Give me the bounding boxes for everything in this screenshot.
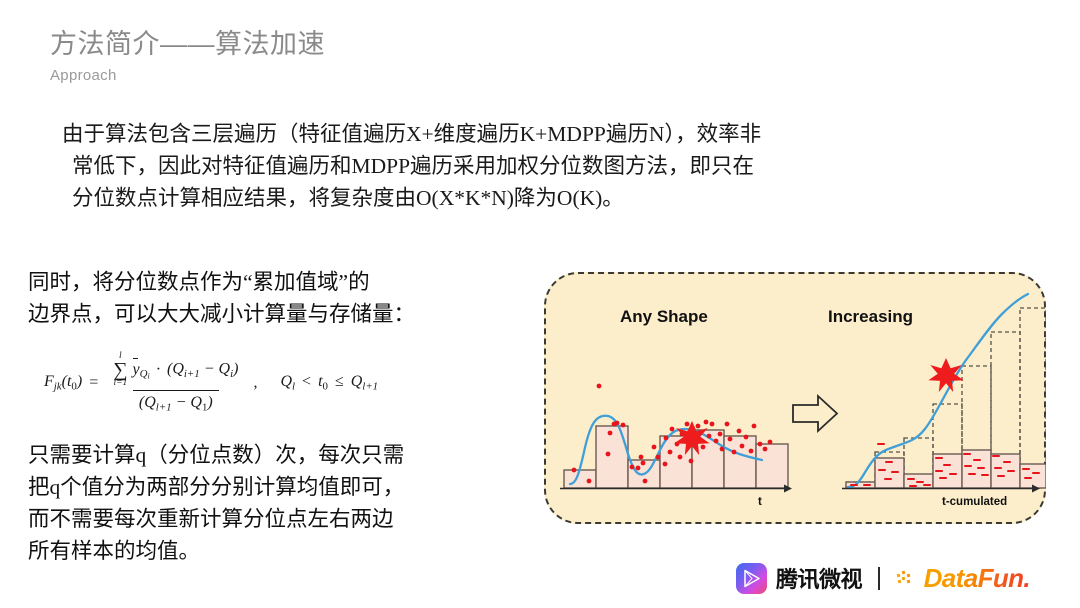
- figure-canvas: [546, 274, 1046, 524]
- bar: [991, 454, 1020, 488]
- data-point: [749, 449, 754, 454]
- dot-cluster-icon: [896, 568, 914, 588]
- formula-fraction: l ∑ i=1 yQi · (Qi+1 − Qi) (Ql+1 − Q1): [107, 352, 244, 413]
- paragraph-bottom-line-1: 只需要计算q（分位点数）次，每次只需: [28, 439, 528, 471]
- page-title: 方法简介——算法加速: [50, 28, 750, 62]
- data-point: [720, 447, 725, 452]
- paragraph-bottom-line-4: 所有样本的均值。: [28, 535, 528, 567]
- intro-line-1: 由于算法包含三层遍历（特征值遍历X+维度遍历K+MDPP遍历N），效率非: [62, 118, 1022, 150]
- data-point: [668, 450, 673, 455]
- bar: [962, 450, 991, 488]
- data-point: [664, 436, 669, 441]
- bar: [724, 436, 756, 488]
- paragraph-top-line-1: 同时，将分位数点作为“累加值域”的: [28, 266, 528, 298]
- formula-lhs: Fjk(t0): [44, 373, 82, 392]
- data-point: [768, 440, 773, 445]
- data-point: [606, 452, 611, 457]
- bar: [564, 470, 596, 488]
- paragraph-bottom-line-2: 把q个值分为两部分分别计算均值即可，: [28, 471, 528, 503]
- bar: [756, 444, 788, 488]
- red-star-marker-right: [928, 358, 963, 392]
- formula-comma: ,: [253, 374, 257, 392]
- data-point: [652, 445, 657, 450]
- data-point: [621, 423, 626, 428]
- data-point: [608, 431, 613, 436]
- data-point: [689, 459, 694, 464]
- paragraph-top-line-2: 边界点，可以大大减小计算量与存储量：: [28, 298, 528, 330]
- formula-numerator: l ∑ i=1 yQi · (Qi+1 − Qi): [107, 352, 244, 390]
- y-bar-symbol: y: [132, 361, 139, 379]
- data-point: [663, 462, 668, 467]
- cumulative-step: [1020, 308, 1046, 488]
- data-point: [641, 461, 646, 466]
- bar-series-left: [564, 426, 788, 488]
- formula-denominator: (Ql+1 − Q1): [133, 390, 219, 413]
- data-point: [643, 479, 648, 484]
- paragraph-bottom: 只需要计算q（分位点数）次，每次只需 把q个值分为两部分分别计算均值即可， 而不…: [28, 439, 528, 567]
- data-point: [678, 455, 683, 460]
- weishi-brand-name: 腾讯微视: [776, 562, 862, 594]
- summation-icon: l ∑ i=1: [113, 352, 127, 388]
- data-point: [744, 435, 749, 440]
- data-point: [714, 439, 719, 444]
- data-point: [615, 421, 620, 426]
- data-point: [704, 420, 709, 425]
- data-point: [707, 434, 712, 439]
- page-subtitle: Approach: [50, 67, 750, 84]
- data-point: [696, 424, 701, 429]
- data-point: [572, 468, 577, 473]
- left-column: 同时，将分位数点作为“累加值域”的 边界点，可以大大减小计算量与存储量： Fjk…: [28, 266, 528, 567]
- data-point: [656, 455, 661, 460]
- intro-paragraph: 由于算法包含三层遍历（特征值遍历X+维度遍历K+MDPP遍历N），效率非 常低下…: [62, 118, 1022, 214]
- data-point: [725, 422, 730, 427]
- data-point: [737, 429, 742, 434]
- data-point: [597, 384, 602, 389]
- data-point: [732, 450, 737, 455]
- paragraph-top: 同时，将分位数点作为“累加值域”的 边界点，可以大大减小计算量与存储量：: [28, 266, 528, 330]
- data-point: [763, 447, 768, 452]
- logo-divider: [878, 567, 880, 590]
- formula-expression: Fjk(t0) = l ∑ i=1 yQi · (Qi+1 − Qi) (Ql+…: [44, 352, 528, 413]
- data-point: [718, 432, 723, 437]
- play-gradient-icon: [736, 563, 767, 594]
- formula-condition: Ql < t0 ≤ Ql+1: [280, 373, 378, 392]
- data-point: [758, 442, 763, 447]
- figure-panel: Any Shape Increasing t t-cumulated: [544, 272, 1046, 524]
- data-point: [636, 466, 641, 471]
- intro-line-3: 分位数点计算相应结果，将复杂度由O(X*K*N)降为O(K)。: [72, 182, 1022, 214]
- chart-any-shape: [560, 384, 792, 493]
- data-point: [630, 465, 635, 470]
- slide-header: 方法简介——算法加速 Approach: [50, 28, 750, 84]
- paragraph-bottom-line-3: 而不需要每次重新计算分位点左右两边: [28, 503, 528, 535]
- data-point: [587, 479, 592, 484]
- data-point: [685, 422, 690, 427]
- formula-equals: =: [89, 374, 98, 392]
- data-point: [740, 444, 745, 449]
- intro-line-2: 常低下，因此对特征值遍历和MDPP遍历采用加权分位数图方法，即只在: [72, 150, 1022, 182]
- data-point: [752, 424, 757, 429]
- bar: [1020, 464, 1046, 488]
- data-point: [728, 437, 733, 442]
- data-point: [710, 422, 715, 427]
- footer-logos: 腾讯微视 DataFun.: [736, 558, 1030, 598]
- datafun-brand-name: DataFun.: [924, 563, 1030, 594]
- data-point: [670, 427, 675, 432]
- chart-increasing: [842, 294, 1046, 493]
- double-arrow-right-icon: [793, 396, 837, 431]
- data-point: [639, 455, 644, 460]
- data-point: [701, 445, 706, 450]
